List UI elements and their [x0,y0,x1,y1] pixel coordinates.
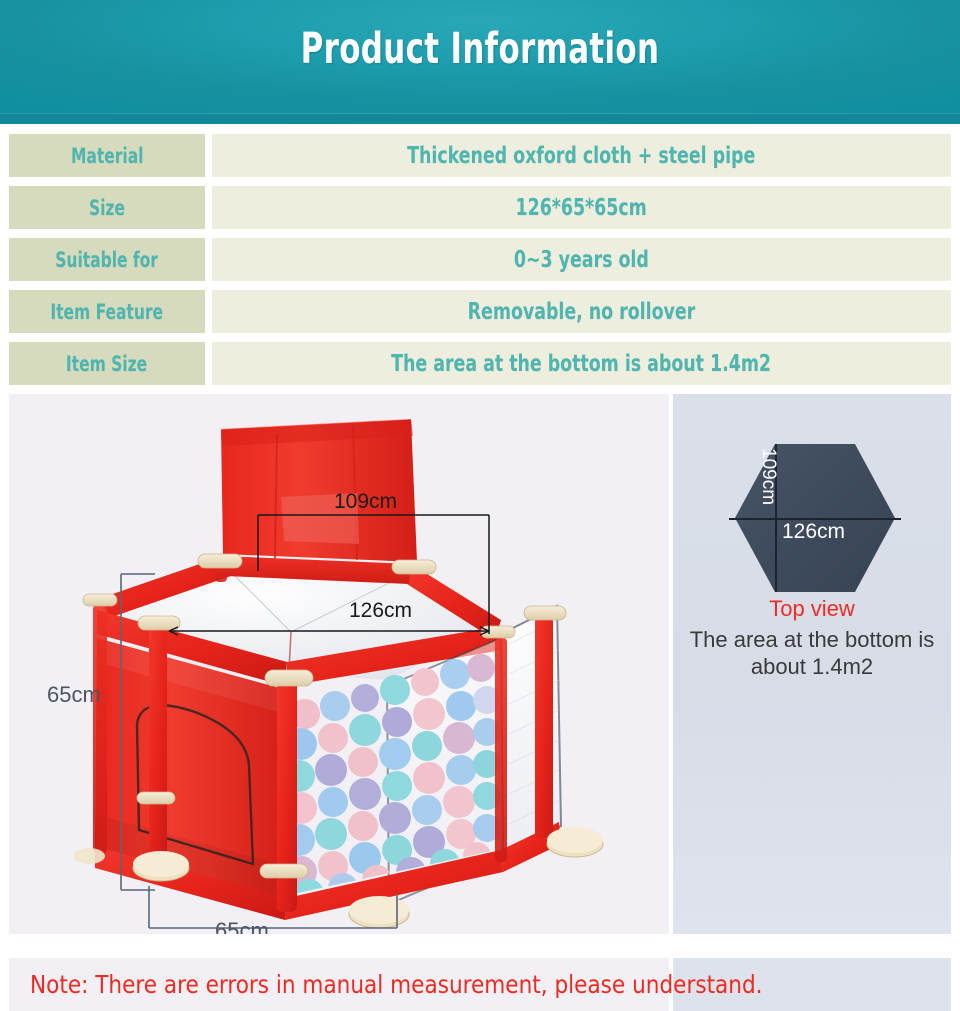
spec-label-text: Item Size [66,352,147,376]
top-view-panel: 109cm 126cm Top view The area at the bot… [673,394,951,934]
spec-label-text: Size [89,196,125,220]
page-header: Product Information [0,0,960,124]
spec-value-material: Thickened oxford cloth + steel pipe [212,134,951,177]
spec-label-text: Item Feature [51,300,164,324]
hexagon-diagram: 109cm 126cm [735,444,895,592]
spec-label-item-feature: Item Feature [9,290,205,333]
spec-value-item-feature: Removable, no rollover [212,290,951,333]
spec-label-text: Material [71,144,144,168]
top-view-caption: Top view [673,596,951,622]
spec-label-size: Size [9,186,205,229]
spec-value-text: 126*65*65cm [516,195,647,221]
table-row: Size 126*65*65cm [0,186,960,229]
playpen-illustration [9,394,669,934]
footer-note-text: Note: There are errors in manual measure… [30,970,763,999]
hexagon-label-126cm: 126cm [782,520,845,544]
spec-label-item-size: Item Size [9,342,205,385]
spec-value-text: Removable, no rollover [468,299,696,325]
footer-note-bar: Note: There are errors in manual measure… [0,958,960,1011]
top-view-note: The area at the bottom is about 1.4m2 [679,626,945,680]
spec-value-text: The area at the bottom is about 1.4m2 [392,351,772,377]
image-panels: 109cm 126cm 65cm 65cm 109cm 126cm Top vi… [0,394,960,939]
table-row: Item Size The area at the bottom is abou… [0,342,960,385]
product-photo-panel: 109cm 126cm 65cm 65cm [9,394,669,934]
spec-label-suitable-for: Suitable for [9,238,205,281]
spec-value-suitable-for: 0~3 years old [212,238,951,281]
dimension-label-depth-65cm: 65cm [215,918,269,934]
spec-label-material: Material [9,134,205,177]
spec-value-text: Thickened oxford cloth + steel pipe [407,143,755,169]
table-row: Material Thickened oxford cloth + steel … [0,134,960,177]
table-row: Item Feature Removable, no rollover [0,290,960,333]
dimension-label-126cm: 126cm [349,599,412,623]
dimension-label-height-65cm: 65cm [47,682,101,708]
spec-value-text: 0~3 years old [514,247,649,273]
spec-label-text: Suitable for [56,248,159,272]
spec-value-item-size: The area at the bottom is about 1.4m2 [212,342,951,385]
spec-table: Material Thickened oxford cloth + steel … [0,124,960,385]
spec-value-size: 126*65*65cm [212,186,951,229]
page-title: Product Information [96,24,864,74]
dimension-label-109cm: 109cm [334,490,397,514]
hexagon-label-109cm: 109cm [757,448,779,505]
table-row: Suitable for 0~3 years old [0,238,960,281]
